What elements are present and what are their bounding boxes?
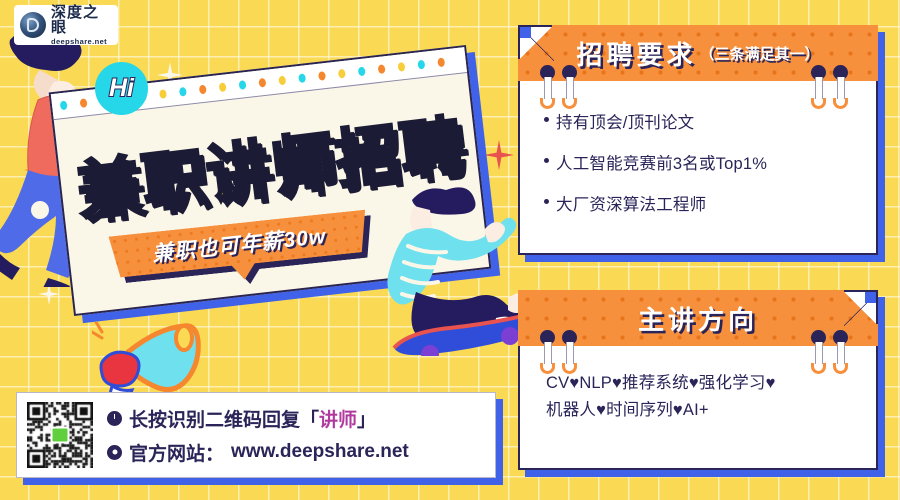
megaphone-icon (92, 322, 202, 400)
folded-corner-accent (520, 27, 531, 38)
contact-line-website[interactable]: 官方网站：www.deepshare.net (107, 439, 409, 466)
folded-corner-accent (865, 292, 876, 303)
topics-line-2: 机器人♥时间序列♥AI+ (546, 397, 876, 424)
website-label: 官方网站： (129, 439, 224, 466)
card-requirements: 持有顶会/顶刊论文 人工智能竞赛前3名或Top1% 大厂资深算法工程师 招聘要求… (518, 25, 878, 255)
strip-dot (258, 78, 266, 88)
pin-icon (540, 330, 555, 374)
poster-root: Hi 兼职讲师招聘 兼职也可年薪30w (0, 0, 900, 500)
website-url[interactable]: www.deepshare.net (231, 441, 409, 463)
wechat-icon (51, 427, 70, 444)
brand-name-en: deepshare.net (51, 38, 112, 46)
contact-card-body: 长按识别二维码回复「讲师」 官方网站：www.deepshare.net (16, 392, 496, 478)
pin-icon (811, 65, 826, 109)
strip-dot (338, 69, 346, 79)
pin-icon (562, 65, 577, 109)
pin-icon (540, 65, 555, 109)
pin-icon (562, 330, 577, 374)
eye-logo-icon (20, 12, 46, 38)
brand-logo: 深度之眼 deepshare.net (14, 5, 118, 45)
contact-line-qr: 长按识别二维码回复「讲师」 (107, 405, 409, 432)
strip-dot (199, 85, 207, 95)
hi-badge-label: Hi (109, 74, 134, 103)
card-topics: CV♥NLP♥推荐系统♥强化学习♥ 机器人♥时间序列♥AI+ 主讲方向 (518, 290, 878, 470)
strip-dot (437, 57, 445, 67)
strip-dot (298, 73, 306, 83)
strip-dot (159, 89, 167, 99)
strip-dot (278, 76, 286, 86)
strip-dot (378, 64, 386, 74)
strip-dot (219, 82, 227, 92)
list-item: 大厂资深算法工程师 (544, 191, 876, 215)
list-item: 人工智能竞赛前3名或Top1% (544, 150, 876, 174)
strip-dot (397, 62, 405, 72)
strip-dot (318, 71, 326, 81)
brand-name-cn: 深度之眼 (51, 5, 112, 35)
requirements-list: 持有顶会/顶刊论文 人工智能竞赛前3名或Top1% 大厂资深算法工程师 (544, 109, 876, 215)
brand-logo-text: 深度之眼 deepshare.net (51, 5, 112, 46)
contact-qr-text: 长按识别二维码回复「讲师」 (129, 405, 376, 432)
keyword-highlight: 讲师 (319, 410, 357, 431)
contact-card: 长按识别二维码回复「讲师」 官方网站：www.deepshare.net (16, 392, 496, 478)
strip-dot (417, 60, 425, 70)
strip-dot (60, 101, 68, 111)
pin-icon (833, 330, 848, 374)
card-topics-title: 主讲方向 (638, 300, 758, 337)
pin-icon (811, 330, 826, 374)
pin-icon (833, 65, 848, 109)
hi-badge: Hi (95, 62, 148, 115)
qr-code[interactable] (27, 402, 93, 468)
sparkle-icon (484, 140, 514, 170)
card-requirements-title: 招聘要求 (576, 35, 696, 72)
strip-dot (358, 67, 366, 77)
topics-line-1: CV♥NLP♥推荐系统♥强化学习♥ (546, 370, 876, 397)
clock-icon (107, 411, 122, 426)
strip-dot (179, 87, 187, 97)
globe-icon (107, 445, 122, 460)
ribbon-tail (230, 261, 258, 281)
list-item: 持有顶会/顶刊论文 (544, 109, 876, 133)
strip-dot (80, 98, 88, 108)
topics-text: CV♥NLP♥推荐系统♥强化学习♥ 机器人♥时间序列♥AI+ (546, 370, 876, 423)
card-requirements-subtitle: （三条满足其一） (700, 43, 820, 64)
contact-lines: 长按识别二维码回复「讲师」 官方网站：www.deepshare.net (107, 405, 409, 466)
strip-dot (239, 80, 247, 90)
